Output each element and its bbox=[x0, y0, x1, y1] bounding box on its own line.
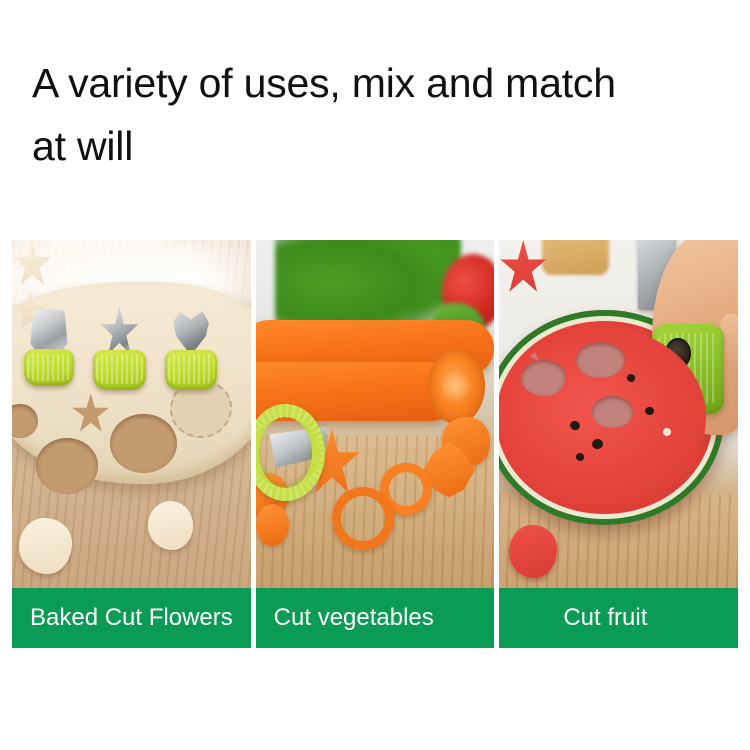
watermelon-seed bbox=[627, 374, 635, 381]
caption-cut-vegetables: Cut vegetables bbox=[256, 588, 495, 648]
cutter-green-handle bbox=[165, 350, 218, 390]
carrot-cut-end bbox=[428, 348, 485, 425]
melon-cutout-round-1 bbox=[576, 342, 625, 378]
watermelon-flesh bbox=[503, 328, 706, 508]
cookie-cutter-tool-star bbox=[93, 306, 146, 390]
melon-cutout-round-2 bbox=[592, 396, 633, 428]
feature-panel-baked[interactable]: Baked Cut Flowers bbox=[12, 240, 251, 648]
product-feature-page: A variety of uses, mix and match at will bbox=[0, 0, 750, 750]
dough-cutout-round bbox=[148, 501, 193, 550]
cutter-green-handle bbox=[256, 404, 325, 501]
photo-cut-vegetables bbox=[256, 240, 495, 588]
melon-piece-heart bbox=[509, 525, 557, 577]
watermelon-seed bbox=[645, 407, 654, 415]
vegetable-cutter-tool bbox=[256, 404, 325, 501]
caption-baked-cut-flowers: Baked Cut Flowers bbox=[12, 588, 251, 648]
wooden-jar bbox=[542, 240, 609, 275]
watermelon-seed bbox=[569, 420, 581, 432]
photo-cut-fruit bbox=[499, 240, 738, 588]
carrot-ring-1 bbox=[332, 487, 394, 550]
watermelon-seed bbox=[591, 438, 604, 450]
dough-cutout-flower bbox=[19, 518, 72, 574]
parsley-greens bbox=[275, 240, 461, 324]
carrot-slice-3 bbox=[256, 504, 289, 546]
watermelon-seed-white bbox=[663, 428, 671, 436]
watermelon-seed bbox=[576, 453, 584, 460]
photo-baked-cut-flowers bbox=[12, 240, 251, 588]
feature-panel-strip: Baked Cut Flowers bbox=[12, 240, 738, 648]
cookie-cutter-tool-heart bbox=[165, 306, 218, 390]
cutter-green-handle bbox=[24, 349, 74, 386]
page-headline: A variety of uses, mix and match at will bbox=[32, 52, 732, 178]
feature-panel-vegetables[interactable]: Cut vegetables bbox=[256, 240, 495, 648]
cutter-green-handle bbox=[93, 350, 146, 390]
cookie-cutter-tool-1 bbox=[24, 310, 74, 387]
caption-cut-fruit: Cut fruit bbox=[499, 588, 738, 648]
feature-panel-fruit[interactable]: Cut fruit bbox=[499, 240, 738, 648]
dough-hole-circle-left bbox=[36, 438, 98, 494]
melon-cutout-flower bbox=[521, 360, 566, 396]
dough-hole-circle-right bbox=[110, 414, 177, 473]
